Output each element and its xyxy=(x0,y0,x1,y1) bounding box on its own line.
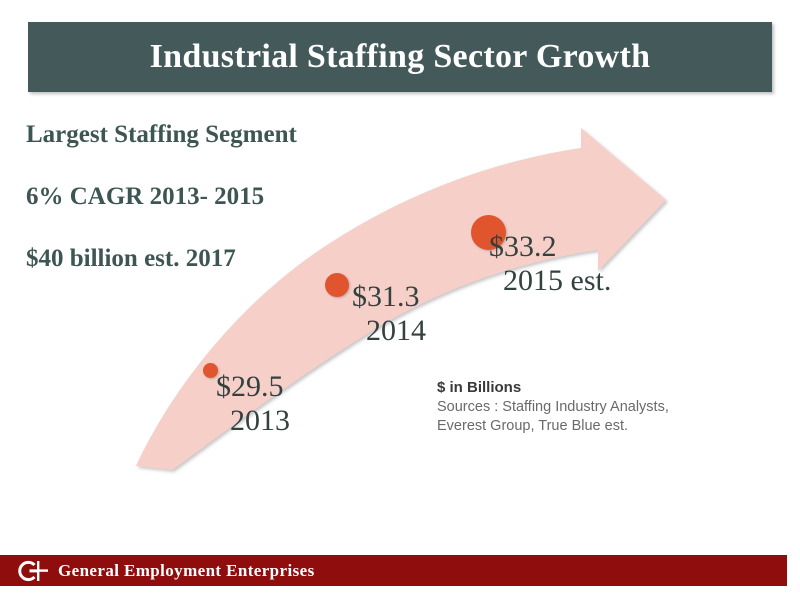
source-note: $ in Billions Sources : Staffing Industr… xyxy=(437,379,737,435)
slide-title-bar: Industrial Staffing Sector Growth xyxy=(28,22,772,92)
data-point-label-2013: $29.5 2013 xyxy=(216,370,290,437)
slide-title: Industrial Staffing Sector Growth xyxy=(28,40,772,74)
slide-footer: General Employment Enterprises xyxy=(0,555,787,586)
data-point-value-2014: $31.3 xyxy=(352,280,426,314)
data-point-year-2014: 2014 xyxy=(352,314,426,348)
data-point-value-2015: $33.2 xyxy=(489,230,611,264)
footer-company-name: General Employment Enterprises xyxy=(58,561,315,581)
source-note-line-2: Everest Group, True Blue est. xyxy=(437,417,737,436)
bullet-item-3: $40 billion est. 2017 xyxy=(26,246,386,271)
bullet-item-2: 6% CAGR 2013- 2015 xyxy=(26,184,386,209)
source-note-line-1: Sources : Staffing Industry Analysts, xyxy=(437,398,737,417)
data-point-value-2013: $29.5 xyxy=(216,370,290,404)
data-point-label-2014: $31.3 2014 xyxy=(352,280,426,347)
source-note-heading: $ in Billions xyxy=(437,379,737,398)
bullet-item-1: Largest Staffing Segment xyxy=(26,122,386,147)
slide-canvas: Industrial Staffing Sector Growth Larges… xyxy=(0,0,800,600)
data-point-year-2013: 2013 xyxy=(216,404,290,438)
data-point-marker-2014 xyxy=(325,273,349,297)
data-point-year-2015: 2015 est. xyxy=(489,264,611,298)
company-logo-icon xyxy=(13,559,51,583)
data-point-label-2015: $33.2 2015 est. xyxy=(489,230,611,297)
